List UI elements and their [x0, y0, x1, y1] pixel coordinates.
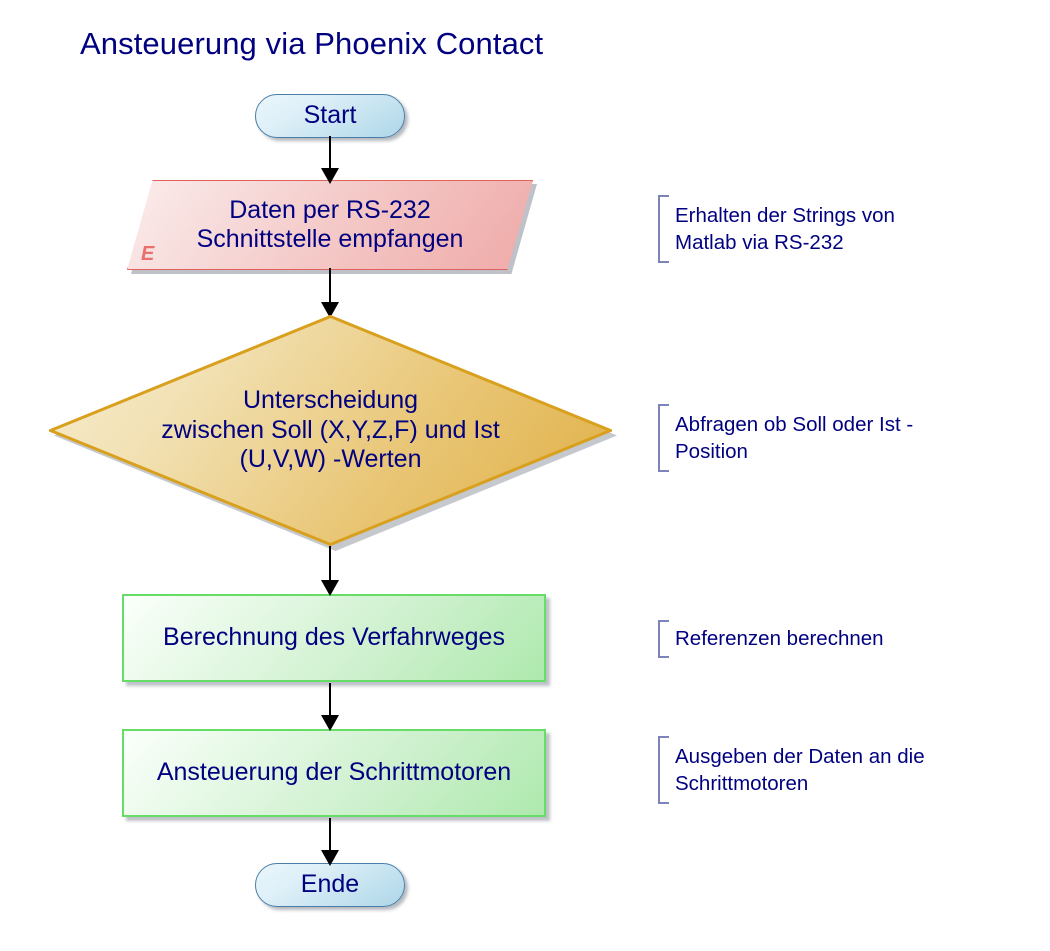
- node-decision-outline: [49, 315, 612, 546]
- node-drive-steppers[interactable]: Ansteuerung der Schrittmotoren: [122, 729, 546, 817]
- node-start-line-1: Start: [304, 101, 357, 131]
- annotation-calculate-text: Referenzen berechnen: [669, 620, 884, 658]
- node-calculate-path-line-1: Berechnung des Verfahrweges: [163, 623, 505, 653]
- node-start[interactable]: Start: [255, 94, 405, 138]
- annotation-calculate-bracket: [658, 620, 669, 658]
- annotation-calculate-line-1: Referenzen berechnen: [675, 625, 884, 652]
- connector-start-to-receive: [310, 136, 350, 186]
- node-end[interactable]: Ende: [255, 863, 405, 907]
- annotation-calculate: Referenzen berechnen: [658, 620, 884, 658]
- node-receive-data[interactable]: Daten per RS-232 Schnittstelle empfangen…: [127, 180, 533, 270]
- node-calculate-path[interactable]: Berechnung des Verfahrweges: [122, 594, 546, 682]
- node-end-text: Ende: [256, 864, 404, 906]
- node-drive-steppers-text: Ansteuerung der Schrittmotoren: [124, 731, 544, 815]
- node-calculate-path-text: Berechnung des Verfahrweges: [124, 596, 544, 680]
- node-receive-data-tag: E: [141, 243, 154, 266]
- node-end-line-1: Ende: [301, 870, 359, 900]
- connector-receive-to-decide: [310, 268, 350, 320]
- annotation-decision-bracket: [658, 404, 669, 472]
- annotation-drive-text: Ausgeben der Daten an die Schrittmotoren: [669, 736, 925, 804]
- page-title: Ansteuerung via Phoenix Contact: [80, 26, 543, 62]
- connector-drive-to-end: [310, 818, 350, 868]
- annotation-drive-line-2: Schrittmotoren: [675, 770, 925, 797]
- node-decision[interactable]: Unterscheidung zwischen Soll (X,Y,Z,F) u…: [49, 315, 612, 546]
- annotation-decision: Abfragen ob Soll oder Ist - Position: [658, 404, 913, 472]
- annotation-decision-line-1: Abfragen ob Soll oder Ist -: [675, 411, 913, 438]
- annotation-decision-line-2: Position: [675, 438, 913, 465]
- annotation-drive-line-1: Ausgeben der Daten an die: [675, 743, 925, 770]
- connector-decide-to-calc: [310, 546, 350, 598]
- annotation-receive-line-2: Matlab via RS-232: [675, 229, 895, 256]
- node-receive-data-shape: [127, 180, 533, 270]
- flowchart-canvas: Ansteuerung via Phoenix Contact Start Da…: [0, 0, 1050, 951]
- annotation-receive-text: Erhalten der Strings von Matlab via RS-2…: [669, 195, 895, 263]
- node-drive-steppers-line-1: Ansteuerung der Schrittmotoren: [157, 758, 511, 788]
- connector-calc-to-drive: [310, 683, 350, 733]
- annotation-drive-bracket: [658, 736, 669, 804]
- annotation-decision-text: Abfragen ob Soll oder Ist - Position: [669, 404, 913, 472]
- annotation-drive: Ausgeben der Daten an die Schrittmotoren: [658, 736, 925, 804]
- annotation-receive: Erhalten der Strings von Matlab via RS-2…: [658, 195, 895, 263]
- annotation-receive-bracket: [658, 195, 669, 263]
- node-start-text: Start: [256, 95, 404, 137]
- annotation-receive-line-1: Erhalten der Strings von: [675, 202, 895, 229]
